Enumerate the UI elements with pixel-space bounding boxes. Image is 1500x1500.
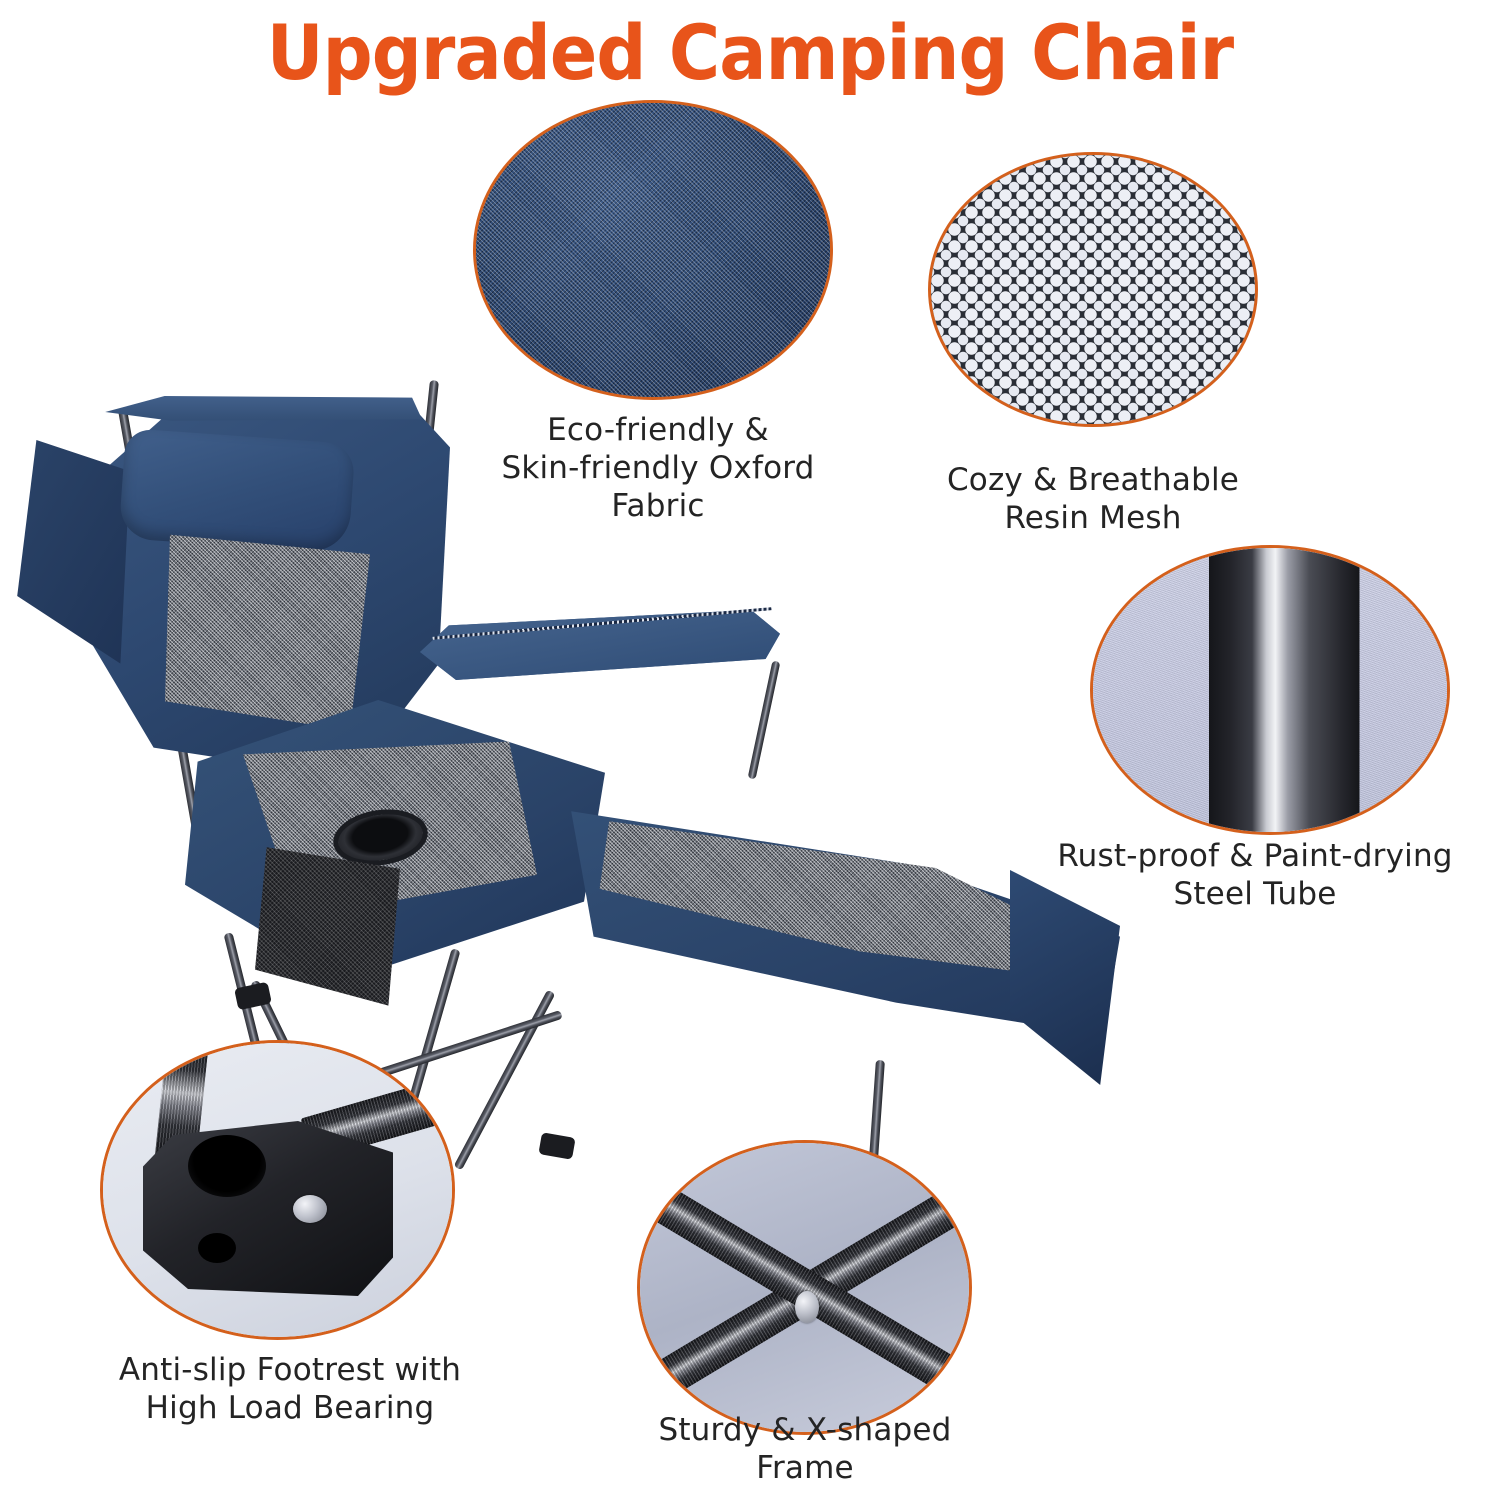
footrest-joint-body	[143, 1121, 393, 1296]
callout-caption-resin-mesh: Cozy & Breathable Resin Mesh	[893, 462, 1293, 538]
side-storage-pocket	[255, 840, 400, 1020]
foot-cap-center	[538, 1132, 575, 1160]
callout-anti-slip-footrest	[100, 1040, 455, 1340]
x-frame-closeup-icon	[637, 1140, 972, 1435]
resin-mesh-swatch-icon	[928, 152, 1258, 427]
callout-resin-mesh	[928, 152, 1258, 427]
callout-oxford-fabric	[473, 100, 833, 400]
infographic-canvas: Upgraded Camping Chair	[0, 0, 1500, 1500]
page-title: Upgraded Camping Chair	[60, 8, 1440, 97]
armrest-support-tube	[748, 660, 781, 779]
footrest-small-hole	[198, 1233, 236, 1263]
callout-caption-anti-slip-footrest: Anti-slip Footrest with High Load Bearin…	[55, 1352, 525, 1428]
headrest-pillow	[118, 428, 355, 554]
callout-caption-oxford-fabric: Eco-friendly & Skin-friendly Oxford Fabr…	[443, 412, 873, 525]
callout-caption-steel-tube: Rust-proof & Paint-drying Steel Tube	[1015, 838, 1495, 914]
footrest-joint-closeup-icon	[100, 1040, 455, 1340]
steel-tube-closeup-icon	[1090, 545, 1450, 835]
oxford-fabric-swatch-icon	[473, 100, 833, 400]
footrest-rivet	[293, 1195, 327, 1223]
callout-steel-tube	[1090, 545, 1450, 835]
armrest-top	[420, 610, 780, 680]
callout-x-shaped-frame	[637, 1140, 972, 1435]
x-frame-rivet	[795, 1291, 819, 1323]
callout-caption-x-shaped-frame: Sturdy & X-shaped Frame	[605, 1412, 1005, 1488]
footrest-socket-hole	[188, 1135, 266, 1197]
